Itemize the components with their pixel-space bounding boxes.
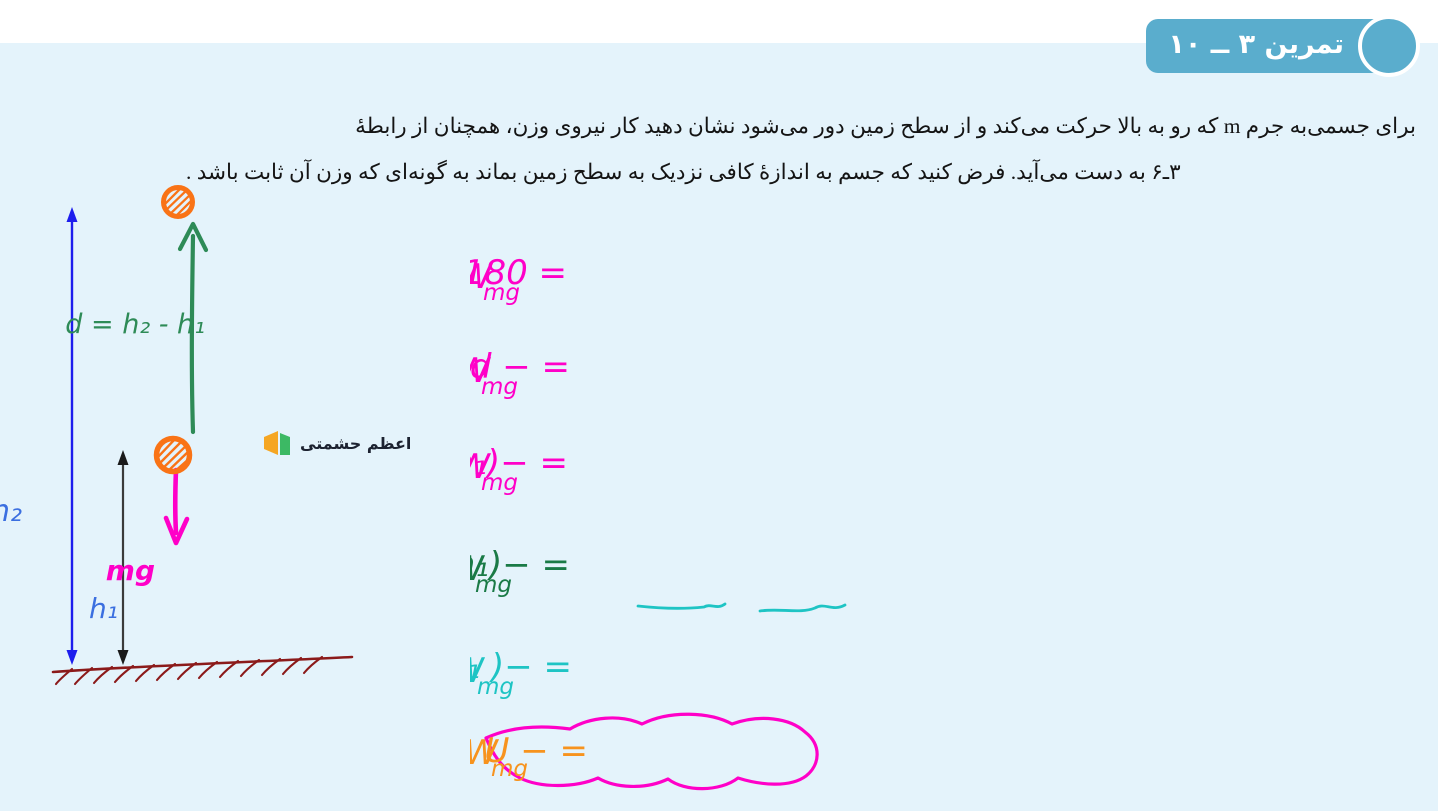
displacement-label: d = h₂ - h₁ bbox=[65, 309, 205, 340]
handwritten-solution: .hw { font-family: "DejaVu Sans", sans-s… bbox=[470, 240, 1030, 811]
equation-5: W mg = −( U₂ − U₁) bbox=[470, 647, 572, 700]
equation-1: W mg = mg d Cos 180 bbox=[470, 253, 567, 306]
equation-6-rhs: = − Δ U bbox=[470, 731, 588, 771]
mass-ball-upper bbox=[164, 187, 194, 218]
physics-diagram: h₂ h₁ d = h₂ - h₁ mg bbox=[0, 0, 520, 811]
page-root: تمرین ۳ ــ ۱۰ برای جسمی‌به جرم m که رو ب… bbox=[0, 0, 1438, 811]
equation-3-rhs: = −mg(h₂ -h₁) bbox=[470, 443, 568, 483]
equation-4-rhs: = −(mg h₂ − mg h₁) bbox=[470, 545, 570, 585]
equation-4: W mg = −(mg h₂ − mg h₁) bbox=[470, 545, 845, 611]
weight-label-text: mg bbox=[106, 554, 155, 587]
brand-logo-icon bbox=[262, 428, 292, 458]
equation-2-rhs: = − mg d bbox=[470, 347, 570, 387]
height1-label-text: h₁ bbox=[89, 592, 118, 625]
height2-arrow bbox=[67, 207, 78, 665]
equation-5-rhs: = −( U₂ − U₁) bbox=[470, 647, 572, 687]
equation-1-rhs: = mg d Cos 180 bbox=[470, 253, 567, 293]
height2-label: h₂ bbox=[0, 494, 22, 529]
displacement-label-text: d = h₂ - h₁ bbox=[65, 309, 205, 340]
equation-3: W mg = −mg(h₂ -h₁) bbox=[470, 443, 568, 496]
weight-arrow bbox=[166, 470, 187, 543]
circle-outline-icon bbox=[1358, 15, 1420, 77]
exercise-badge-label: تمرین ۳ ــ ۱۰ bbox=[1168, 31, 1344, 61]
height1-label: h₁ bbox=[89, 592, 118, 625]
equation-2: W mg = − mg d bbox=[470, 347, 570, 400]
ground-hatching bbox=[53, 657, 352, 684]
equation-4-underline-right bbox=[760, 605, 845, 611]
author-watermark: اعظم حشمتی bbox=[262, 428, 411, 458]
height2-label-text: h₂ bbox=[0, 494, 22, 529]
mass-ball-lower bbox=[157, 438, 191, 473]
equation-6: W mg = − Δ U bbox=[470, 714, 817, 788]
author-watermark-text: اعظم حشمتی bbox=[300, 434, 411, 453]
equation-4-underline-left bbox=[638, 604, 725, 608]
weight-label: mg bbox=[106, 554, 155, 587]
